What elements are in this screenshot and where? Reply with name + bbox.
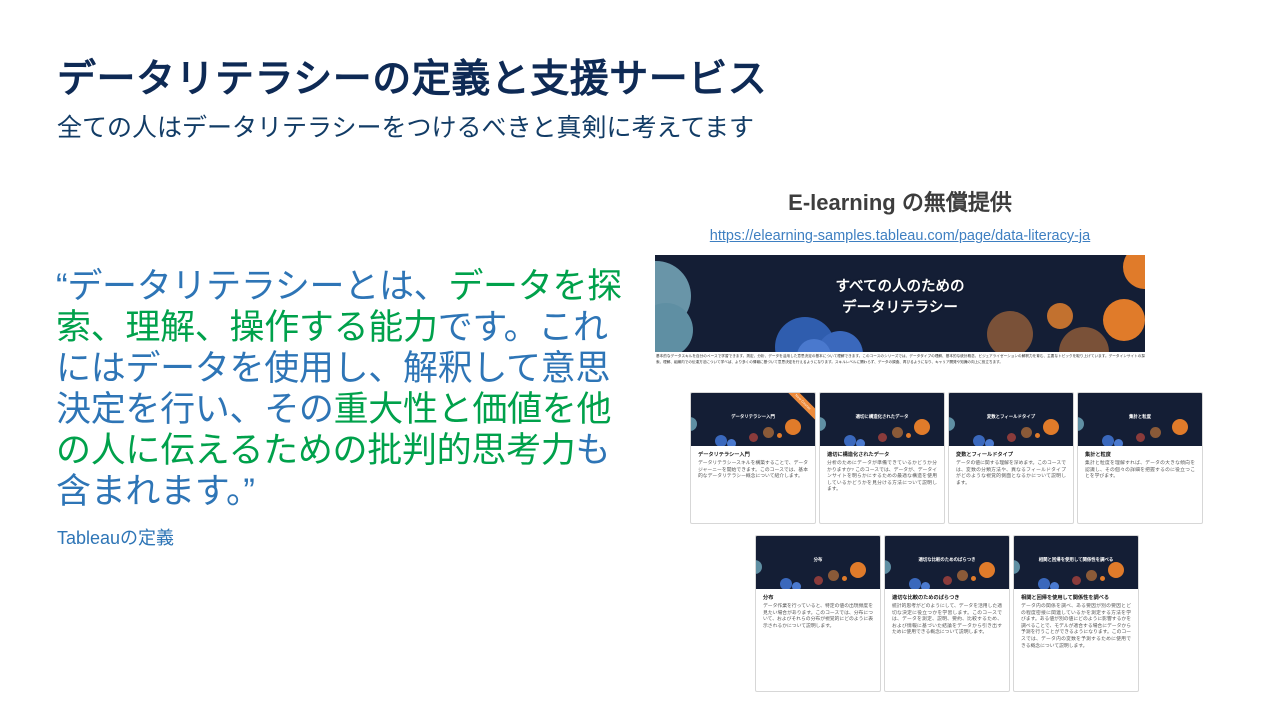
hero-title: すべての人のための データリテラシー: [655, 277, 1145, 319]
course-thumbnail: 集計と粒度: [1078, 393, 1202, 446]
course-description: 統計的思考がどのようにして、データを活用した適切な決定に役立つかを学習します。こ…: [885, 604, 1009, 645]
course-card-grid: データリテラシー入門 New Course データリテラシー入門 データリテラシ…: [655, 392, 1155, 712]
thumb-circle-blue-2: [792, 582, 801, 589]
thumb-circle-brown: [957, 570, 968, 581]
thumb-circle-orange: [914, 419, 930, 435]
course-title: 適切な比較のためのばらつき: [885, 589, 1009, 604]
course-description: データリテラシースキルを構築することで、データジャーニーを開始できます。このコー…: [691, 461, 815, 489]
thumb-circle-red: [1072, 576, 1081, 585]
hero-circle-brown-2: [1059, 327, 1109, 352]
thumb-circle-blue-1: [973, 435, 985, 446]
course-description: データの値に関する理解を深めます。このコースでは、変数の分類方法や、異なるフィー…: [949, 461, 1073, 495]
definition-quote: “データリテラシーとは、データを探索、理解、操作する能力です。これにはデータを使…: [56, 266, 636, 512]
thumb-circle-blue-1: [844, 435, 856, 446]
thumb-circle-red: [943, 576, 952, 585]
quote-segment-2: データを: [448, 267, 587, 306]
course-description: データ内の関係を調べ、ある要因が別の要因とどの程度密接に関連しているかを測定する…: [1014, 604, 1138, 658]
hero-title-line1: すべての人のための: [655, 277, 1145, 298]
thumb-circle-red: [749, 433, 758, 442]
thumb-circle-brown: [763, 427, 774, 438]
thumb-circle-red: [814, 576, 823, 585]
course-card[interactable]: データリテラシー入門 New Course データリテラシー入門 データリテラシ…: [690, 392, 816, 524]
course-card[interactable]: 適切に構造化されたデータ 適切に構造化されたデータ 分析のためにデータが準備でき…: [819, 392, 945, 524]
page-subtitle: 全ての人はデータリテラシーをつけるべきと真剣に考えてます: [57, 108, 754, 144]
thumb-circle-blue-1: [780, 578, 792, 589]
course-title: 分布: [756, 589, 880, 604]
quote-attribution: Tableauの定義: [57, 524, 174, 550]
thumb-circle-orange: [1043, 419, 1059, 435]
course-description: データ作業を行っていると、特定の値の出現頻度を見たい場合があります。このコースで…: [756, 604, 880, 638]
quote-segment-7: 重大性と価値を: [334, 390, 577, 429]
thumb-circle-orange: [979, 562, 995, 578]
course-title: データリテラシー入門: [691, 446, 815, 461]
course-thumbnail: 変数とフィールドタイプ: [949, 393, 1073, 446]
course-thumbnail: 適切に構造化されたデータ: [820, 393, 944, 446]
thumb-circle-red: [1007, 433, 1016, 442]
thumb-circle-brown: [892, 427, 903, 438]
thumb-circle-dot: [1100, 576, 1105, 581]
thumb-circle-orange: [850, 562, 866, 578]
thumb-circle-blue-2: [1050, 582, 1059, 589]
thumb-title: 適切に構造化されたデータ: [820, 414, 944, 420]
thumb-circle-dot: [1035, 433, 1040, 438]
thumb-circle-dot: [842, 576, 847, 581]
quote-segment-4: です。こ: [438, 308, 573, 347]
thumb-circle-dot: [906, 433, 911, 438]
elearning-url-link[interactable]: https://elearning-samples.tableau.com/pa…: [655, 228, 1145, 244]
course-description: 分析のためにデータが準備できているかどうか分かりますか? このコースでは、データ…: [820, 461, 944, 502]
thumb-title: 変数とフィールドタイプ: [949, 414, 1073, 420]
thumb-circle-brown: [1150, 427, 1161, 438]
thumb-circle-dot: [777, 433, 782, 438]
thumb-circle-orange: [1172, 419, 1188, 435]
course-title: 集計と粒度: [1078, 446, 1202, 461]
course-card[interactable]: 適切な比較のためのばらつき 適切な比較のためのばらつき 統計的思考がどのようにし…: [884, 535, 1010, 692]
thumb-circle-blue-2: [1114, 439, 1123, 446]
thumb-circle-brown: [828, 570, 839, 581]
thumb-title: 集計と粒度: [1078, 414, 1202, 420]
course-thumbnail: データリテラシー入門 New Course: [691, 393, 815, 446]
course-title: 適切に構造化されたデータ: [820, 446, 944, 461]
course-card[interactable]: 集計と粒度 集計と粒度 集計と粒度を理解すれば、データの大きな傾向を認識し、その…: [1077, 392, 1203, 524]
thumb-circle-blue-1: [909, 578, 921, 589]
course-card[interactable]: 分布 分布 データ作業を行っていると、特定の値の出現頻度を見たい場合があります。…: [755, 535, 881, 692]
course-thumbnail: 分布: [756, 536, 880, 589]
thumb-circle-blue-1: [715, 435, 727, 446]
thumb-circle-red: [1136, 433, 1145, 442]
thumb-circle-orange: [785, 419, 801, 435]
thumb-circle-blue-2: [921, 582, 930, 589]
thumb-title: データリテラシー入門: [691, 414, 815, 420]
course-thumbnail: 適切な比較のためのばらつき: [885, 536, 1009, 589]
thumb-circle-blue-2: [727, 439, 736, 446]
hero-banner: すべての人のための データリテラシー: [655, 255, 1145, 352]
thumb-circle-brown: [1086, 570, 1097, 581]
course-card[interactable]: 変数とフィールドタイプ 変数とフィールドタイプ データの値に関する理解を深めます…: [948, 392, 1074, 524]
thumb-circle-red: [878, 433, 887, 442]
course-title: 変数とフィールドタイプ: [949, 446, 1073, 461]
thumb-circle-blue-2: [856, 439, 865, 446]
elearning-description: 基本的なデータスキルを自分のペースで学習できます。測定、分析、データを活用した意…: [656, 354, 1145, 365]
thumb-circle-blue-1: [1038, 578, 1050, 589]
page-title: データリテラシーの定義と支援サービス: [57, 48, 767, 104]
thumb-title: 適切な比較のためのばらつき: [885, 557, 1009, 563]
thumb-circle-blue-2: [985, 439, 994, 446]
hero-title-line2: データリテラシー: [655, 298, 1145, 319]
thumb-circle-orange: [1108, 562, 1124, 578]
thumb-circle-dot: [971, 576, 976, 581]
thumb-circle-brown: [1021, 427, 1032, 438]
course-card[interactable]: 相関と回帰を使用して関係性を調べる 相関と回帰を使用して関係性を調べる データ内…: [1013, 535, 1139, 692]
quote-segment-1: “データリテラシーとは、: [56, 267, 448, 306]
slide-root: データリテラシーの定義と支援サービス 全ての人はデータリテラシーをつけるべきと真…: [0, 0, 1280, 717]
course-thumbnail: 相関と回帰を使用して関係性を調べる: [1014, 536, 1138, 589]
thumb-circle-blue-1: [1102, 435, 1114, 446]
thumb-title: 分布: [756, 557, 880, 563]
course-description: 集計と粒度を理解すれば、データの大きな傾向を認識し、その個々の詳細を把握するのに…: [1078, 461, 1202, 489]
thumb-title: 相関と回帰を使用して関係性を調べる: [1014, 557, 1138, 563]
elearning-heading: E-learning の無償提供: [655, 185, 1145, 217]
course-title: 相関と回帰を使用して関係性を調べる: [1014, 589, 1138, 604]
